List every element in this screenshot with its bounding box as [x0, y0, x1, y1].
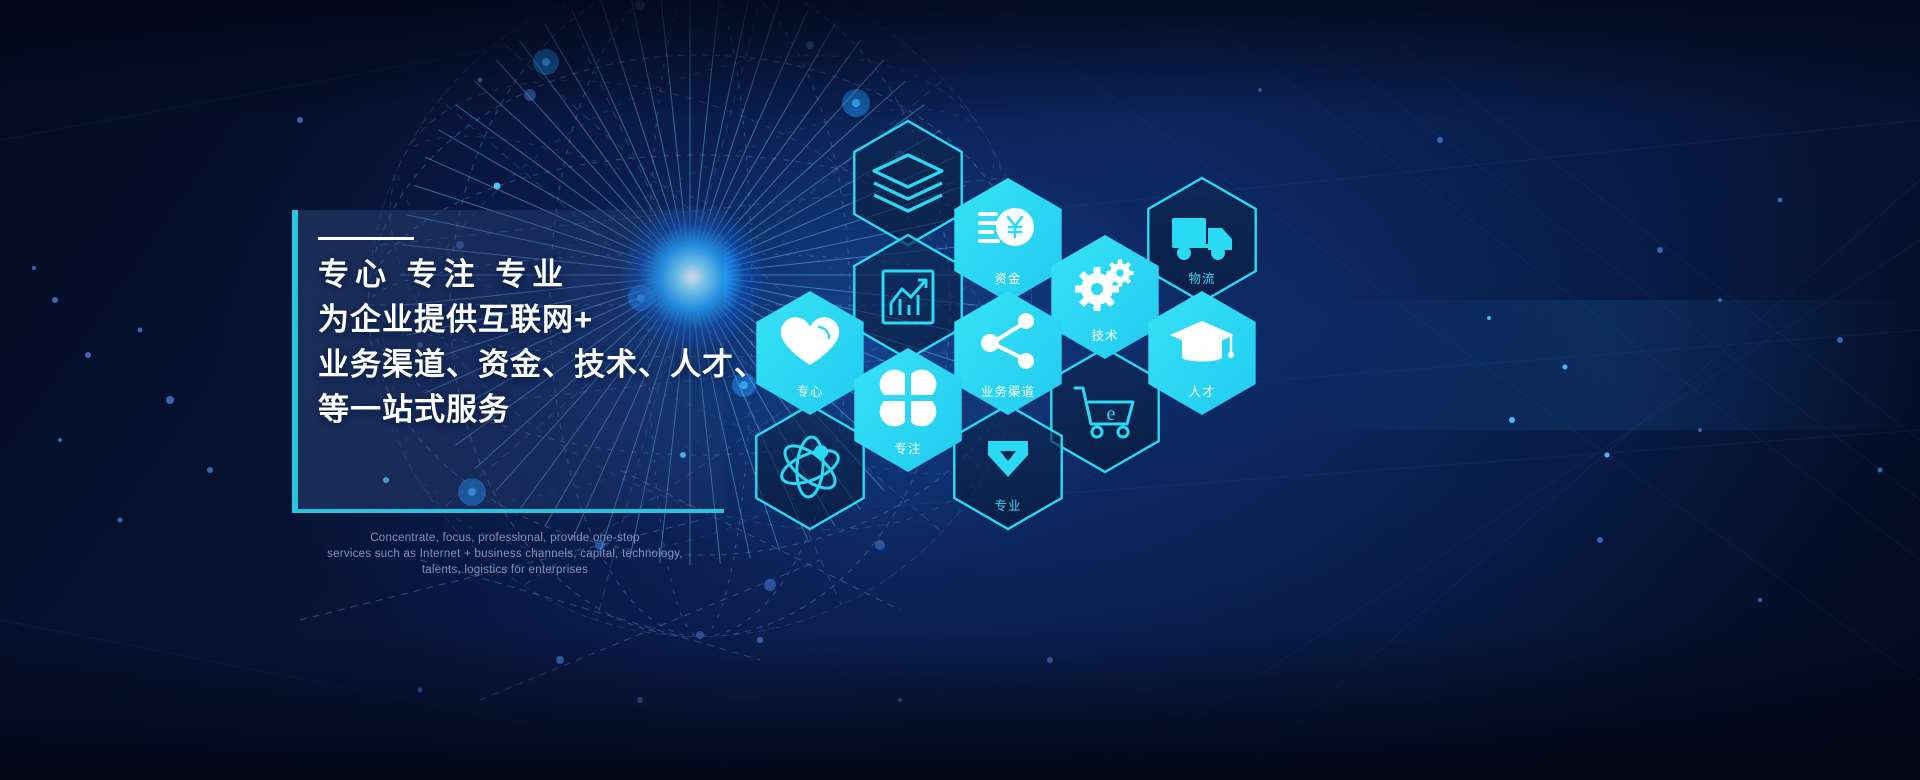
hexagon-logistics [1148, 178, 1255, 302]
subtext-line-1: Concentrate, focus, professional, provid… [315, 530, 695, 546]
headline-line-1: 专心 专注 专业 [318, 252, 738, 297]
headline-line-2: 为企业提供互联网+ [318, 297, 738, 342]
hexagon-heart [756, 291, 863, 415]
headline-panel: 专心 专注 专业 为企业提供互联网+ 业务渠道、资金、技术、人才、物流 等一站式… [292, 210, 724, 513]
banner-stage: 专心 专注 专业 为企业提供互联网+ 业务渠道、资金、技术、人才、物流 等一站式… [0, 0, 1920, 780]
headline-line-4: 等一站式服务 [318, 387, 738, 432]
headline-text: 专心 专注 专业 为企业提供互联网+ 业务渠道、资金、技术、人才、物流 等一站式… [318, 252, 738, 432]
hexagon-focus [854, 348, 961, 472]
subtext-line-2: services such as Internet + business cha… [315, 546, 695, 562]
hexagon-layers [854, 121, 961, 245]
hexagon-tech [1051, 235, 1158, 359]
hexagon-channels [954, 291, 1061, 415]
hexagon-pro [954, 405, 1061, 529]
hexagon-ecart: e [1051, 348, 1158, 472]
hexagon-atom [756, 405, 863, 529]
headline-rule [318, 237, 414, 240]
subtext-block: Concentrate, focus, professional, provid… [315, 530, 695, 578]
hexagon-cluster: e [740, 100, 1300, 520]
hexagon-funds [954, 178, 1061, 302]
ecart-e-glyph: e [1107, 403, 1116, 425]
headline-line-3: 业务渠道、资金、技术、人才、物流 [318, 342, 738, 387]
hexagon-chart [854, 235, 961, 359]
subtext-line-3: talents, logistics for enterprises [315, 562, 695, 578]
hexagon-talent [1148, 291, 1255, 415]
